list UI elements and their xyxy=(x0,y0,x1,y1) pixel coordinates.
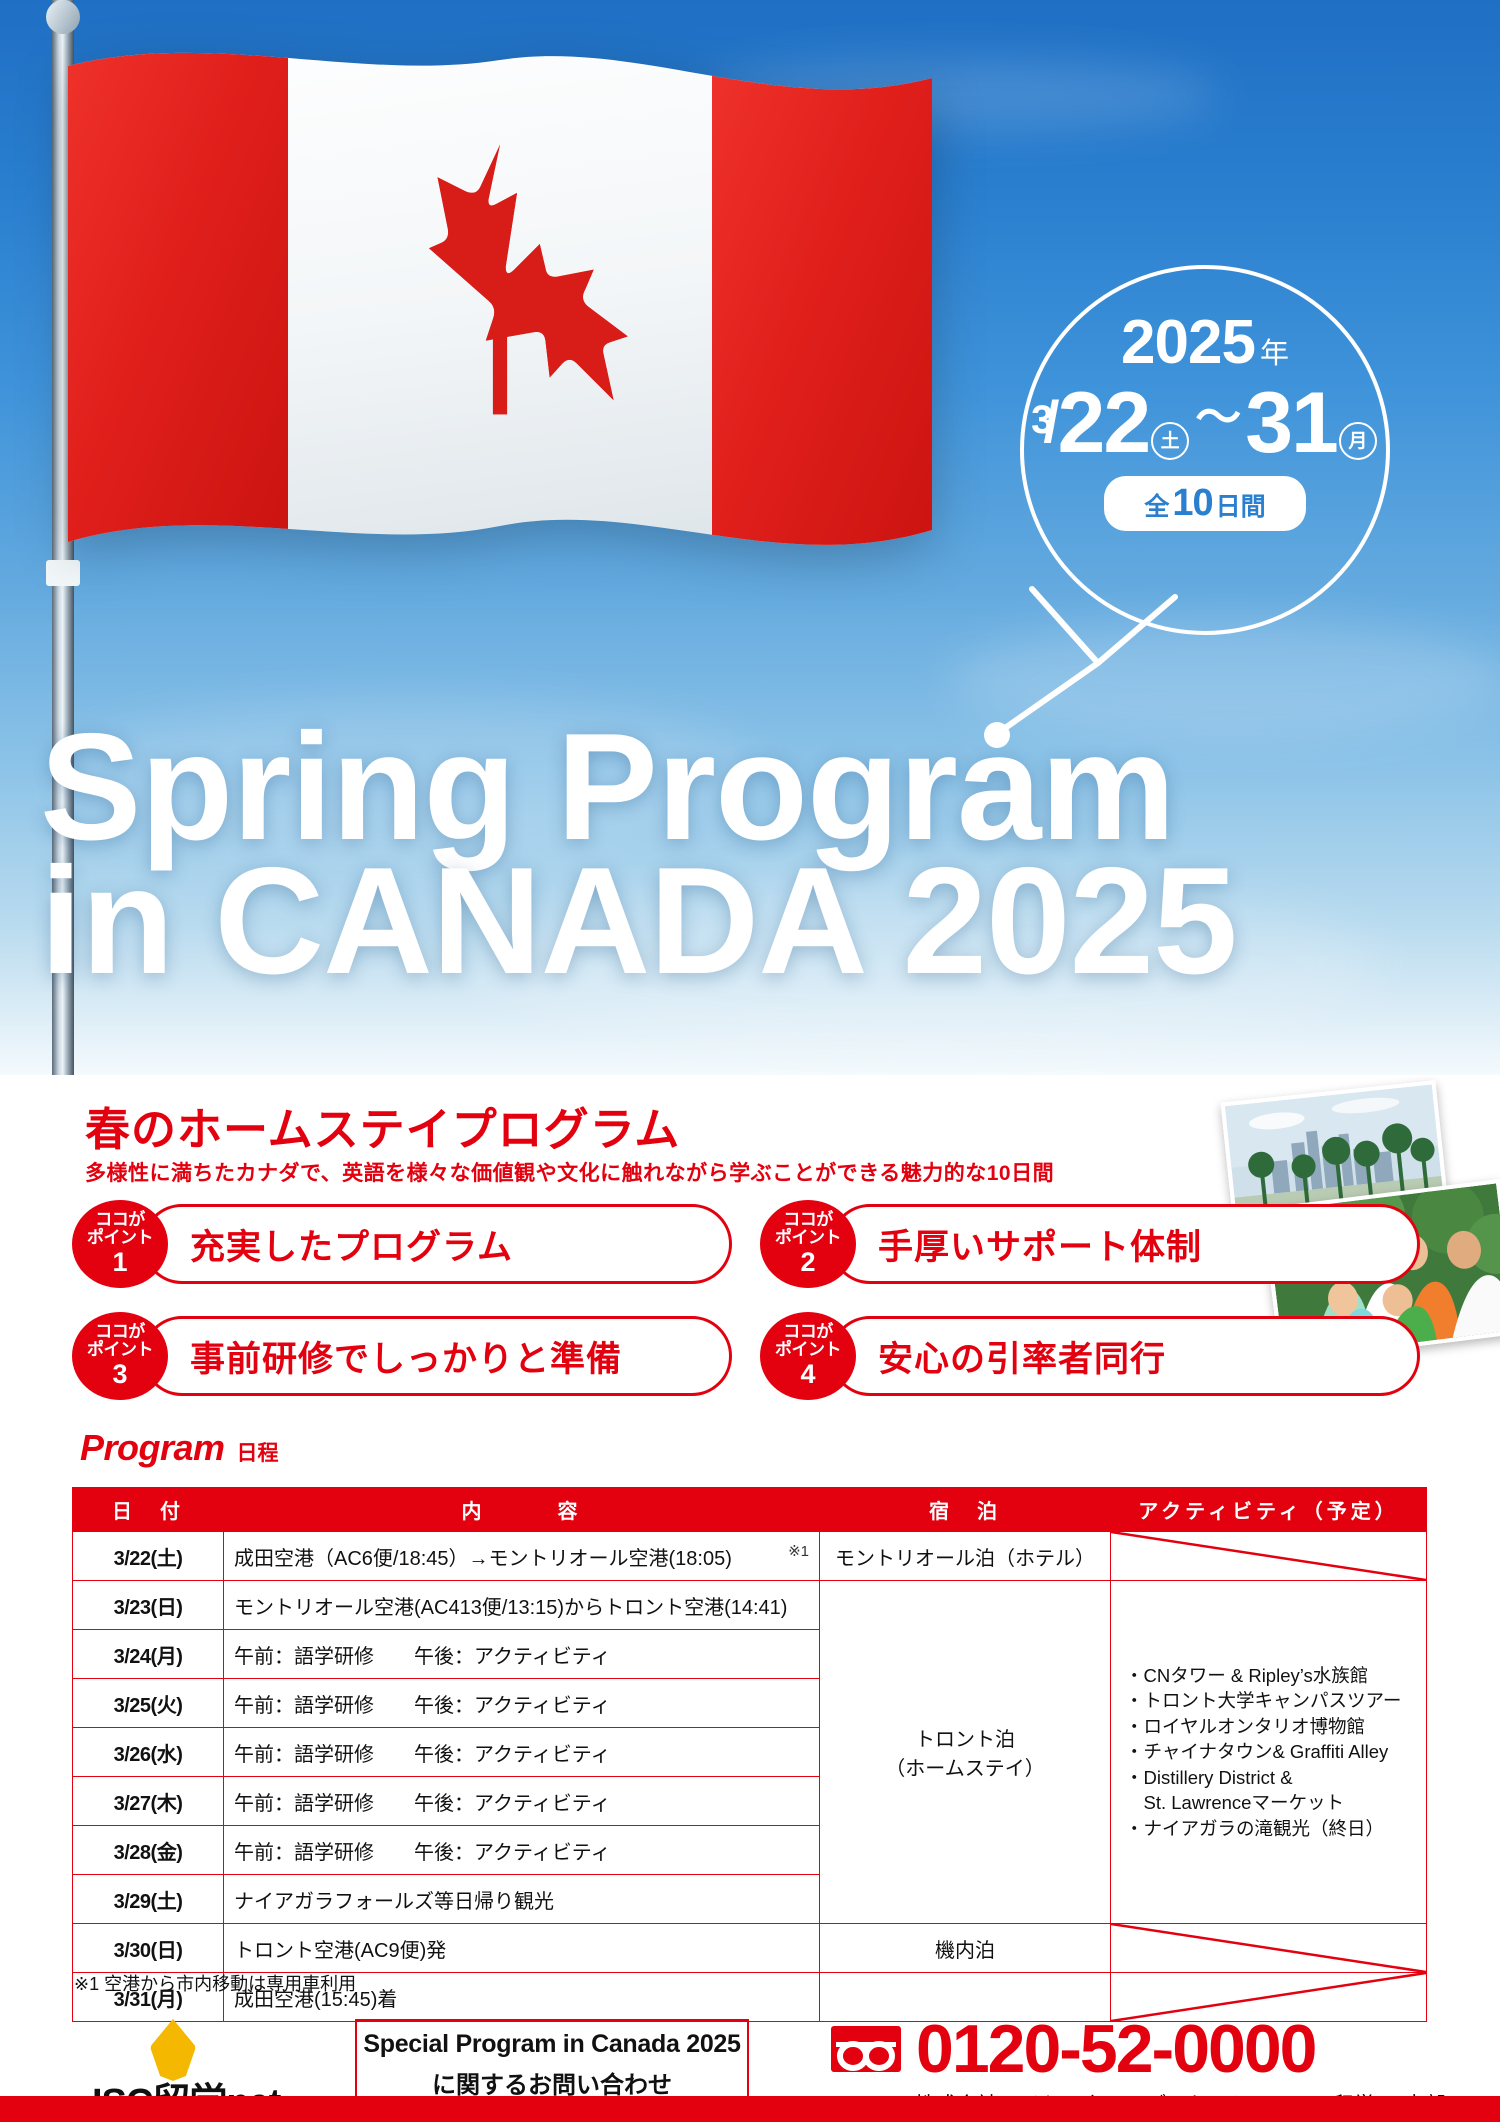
cell-content: 午前：語学研修 午後：アクティビティ xyxy=(224,1777,820,1826)
duration-pill: 全 10 日間 xyxy=(1104,476,1305,531)
cell-date: 3/28(金) xyxy=(73,1826,224,1875)
cell-date: 3/29(土) xyxy=(73,1875,224,1924)
range-tilde: ～ xyxy=(1195,394,1241,440)
table-row: 3/30(日) トロント空港(AC9便)発 機内泊 xyxy=(73,1924,1427,1973)
point-label-2: 手厚いサポート体制 xyxy=(878,1200,1202,1288)
activity-item: ・チャイナタウン& Graffiti Alley xyxy=(1125,1739,1416,1765)
col-header-content: 内 容 xyxy=(224,1488,820,1532)
point-item-4: ココが ポイント 4 安心の引率者同行 xyxy=(760,1312,1420,1400)
point-badge-2: ココが ポイント 2 xyxy=(760,1200,856,1288)
section-lead-text: 多様性に満ちたカナダで、英語を様々な価値観や文化に触れながら学ぶことができる魅力… xyxy=(85,1157,1054,1187)
point-badge-line2: ポイント xyxy=(775,1341,841,1359)
canadian-flag xyxy=(60,30,940,600)
cell-note-mark: ※1 xyxy=(788,1542,809,1560)
point-label-4: 安心の引率者同行 xyxy=(878,1312,1166,1400)
point-badge-number: 2 xyxy=(800,1248,815,1276)
point-label-1: 充実したプログラム xyxy=(190,1200,513,1288)
point-item-1: ココが ポイント 1 充実したプログラム xyxy=(72,1200,732,1288)
diagonal-strike-icon xyxy=(1111,1532,1426,1580)
cell-date: 3/24(月) xyxy=(73,1630,224,1679)
inquiry-line-2: に関するお問い合わせ xyxy=(432,2065,672,2100)
program-section-title: Program 日程 xyxy=(80,1427,279,1469)
start-dayofweek: 土 xyxy=(1151,422,1189,460)
telephone-number[interactable]: 0120-52-0000 xyxy=(916,2015,1315,2083)
cell-content: モントリオール空港(AC413便/13:15)からトロント空港(14:41) xyxy=(224,1581,820,1630)
stay-toronto-line1: トロント泊 xyxy=(830,1723,1100,1752)
points-row: ココが ポイント 1 充実したプログラム ココが ポイント 2 手厚いサポート体… xyxy=(72,1200,1432,1288)
point-badge-3: ココが ポイント 3 xyxy=(72,1312,168,1400)
col-header-activity: アクティビティ（予定） xyxy=(1111,1488,1427,1532)
cell-content: ナイアガラフォールズ等日帰り観光 xyxy=(224,1875,820,1924)
point-badge-line1: ココが xyxy=(783,1323,833,1341)
duration-suffix: 日間 xyxy=(1216,487,1266,523)
bottom-red-bar xyxy=(0,2096,1500,2122)
table-row: 3/22(土) 成田空港（AC6便/18:45）→モントリオール空港(18:05… xyxy=(73,1532,1427,1581)
end-dayofweek: 月 xyxy=(1339,422,1377,460)
point-label-3: 事前研修でしっかりと準備 xyxy=(190,1312,622,1400)
point-badge-number: 1 xyxy=(112,1248,127,1276)
date-range-row: 3 / 22 土 ～ 31 月 xyxy=(1031,380,1379,466)
hero-banner: 2025 年 3 / 22 土 ～ 31 月 全 10 日間 xyxy=(0,0,1500,1075)
poster-root: 2025 年 3 / 22 土 ～ 31 月 全 10 日間 xyxy=(0,0,1500,2122)
cell-content: 午前：語学研修 午後：アクティビティ xyxy=(224,1826,820,1875)
program-title-en: Program xyxy=(80,1427,225,1469)
cell-date: 3/27(木) xyxy=(73,1777,224,1826)
point-badge-number: 3 xyxy=(112,1360,127,1388)
table-row: 3/23(日) モントリオール空港(AC413便/13:15)からトロント空港(… xyxy=(73,1581,1427,1630)
telephone-row: 0120-52-0000 xyxy=(830,2015,1470,2083)
col-header-date: 日 付 xyxy=(73,1488,224,1532)
point-item-3: ココが ポイント 3 事前研修でしっかりと準備 xyxy=(72,1312,732,1400)
col-header-stay: 宿 泊 xyxy=(820,1488,1111,1532)
cell-date: 3/23(日) xyxy=(73,1581,224,1630)
cell-content: トロント空港(AC9便)発 xyxy=(224,1924,820,1973)
cell-date: 3/30(日) xyxy=(73,1924,224,1973)
schedule-table: 日 付 内 容 宿 泊 アクティビティ（予定） 3/22(土) 成田空港（AC6… xyxy=(72,1487,1427,2022)
point-badge-1: ココが ポイント 1 xyxy=(72,1200,168,1288)
poster-title: Spring Program in CANADA 2025 xyxy=(40,718,1470,992)
point-badge-number: 4 xyxy=(800,1360,815,1388)
activity-item: ・CNタワー & Ripley’s水族館 xyxy=(1125,1663,1416,1689)
year-number: 2025 xyxy=(1121,312,1255,374)
activity-item: St. Lawrenceマーケット xyxy=(1125,1790,1416,1816)
point-item-2: ココが ポイント 2 手厚いサポート体制 xyxy=(760,1200,1420,1288)
cell-stay-toronto: トロント泊 （ホームステイ） xyxy=(820,1581,1111,1924)
title-line-2: in CANADA 2025 xyxy=(40,852,1470,992)
cell-activity-empty xyxy=(1111,1924,1427,1973)
point-badge-4: ココが ポイント 4 xyxy=(760,1312,856,1400)
cell-content: 午前：語学研修 午後：アクティビティ xyxy=(224,1630,820,1679)
table-header-row: 日 付 内 容 宿 泊 アクティビティ（予定） xyxy=(73,1488,1427,1532)
date-badge: 2025 年 3 / 22 土 ～ 31 月 全 10 日間 xyxy=(1020,290,1390,590)
cell-date: 3/22(土) xyxy=(73,1532,224,1581)
activity-list: ・CNタワー & Ripley’s水族館 ・トロント大学キャンパスツアー ・ロイ… xyxy=(1121,1663,1416,1842)
duration-number: 10 xyxy=(1172,482,1212,525)
inquiry-line-1: Special Program in Canada 2025 xyxy=(363,2030,740,2059)
table-footnote: ※1 空港から市内移動は専用車利用 xyxy=(74,1970,356,1996)
activity-item: ・ロイヤルオンタリオ博物館 xyxy=(1125,1714,1416,1740)
point-badge-line2: ポイント xyxy=(775,1229,841,1247)
program-title-jp: 日程 xyxy=(237,1437,279,1467)
cell-content-text: 成田空港（AC6便/18:45）→モントリオール空港(18:05) xyxy=(234,1548,732,1570)
point-badge-line2: ポイント xyxy=(87,1341,153,1359)
activity-item: ・Distillery District & xyxy=(1125,1765,1416,1791)
start-day: 22 xyxy=(1058,380,1150,466)
cell-activity-list: ・CNタワー & Ripley’s水族館 ・トロント大学キャンパスツアー ・ロイ… xyxy=(1111,1581,1427,1924)
free-dial-icon xyxy=(830,2025,902,2073)
content-body: 春のホームステイプログラム 多様性に満ちたカナダで、英語を様々な価値観や文化に触… xyxy=(0,1075,1500,2122)
cell-content: 午前：語学研修 午後：アクティビティ xyxy=(224,1728,820,1777)
cell-stay-montreal: モントリオール泊（ホテル） xyxy=(820,1532,1111,1581)
points-row: ココが ポイント 3 事前研修でしっかりと準備 ココが ポイント 4 安心の引率… xyxy=(72,1312,1432,1400)
diagonal-strike-icon xyxy=(1111,1924,1426,1972)
flag-pole-cap xyxy=(46,0,80,34)
year-suffix: 年 xyxy=(1260,330,1289,372)
cell-date: 3/25(火) xyxy=(73,1679,224,1728)
cell-content: 午前：語学研修 午後：アクティビティ xyxy=(224,1679,820,1728)
cell-content: 成田空港（AC6便/18:45）→モントリオール空港(18:05) ※1 xyxy=(224,1532,820,1581)
point-badge-line1: ココが xyxy=(95,1323,145,1341)
point-badge-line2: ポイント xyxy=(87,1229,153,1247)
year-row: 2025 年 xyxy=(1121,312,1289,374)
activity-item: ・ナイアガラの滝観光（終日） xyxy=(1125,1816,1416,1842)
cell-activity-empty xyxy=(1111,1532,1427,1581)
point-badge-line1: ココが xyxy=(95,1211,145,1229)
cell-stay-inflight: 機内泊 xyxy=(820,1924,1111,1973)
point-badge-line1: ココが xyxy=(783,1211,833,1229)
activity-item: ・トロント大学キャンパスツアー xyxy=(1125,1688,1416,1714)
stay-toronto-line2: （ホームステイ） xyxy=(830,1752,1100,1781)
section-heading: 春のホームステイプログラム xyxy=(85,1093,680,1158)
duration-prefix: 全 xyxy=(1144,487,1169,523)
cell-date: 3/26(水) xyxy=(73,1728,224,1777)
end-day: 31 xyxy=(1245,380,1337,466)
slash-separator: / xyxy=(1043,394,1059,452)
points-grid: ココが ポイント 1 充実したプログラム ココが ポイント 2 手厚いサポート体… xyxy=(72,1200,1432,1424)
